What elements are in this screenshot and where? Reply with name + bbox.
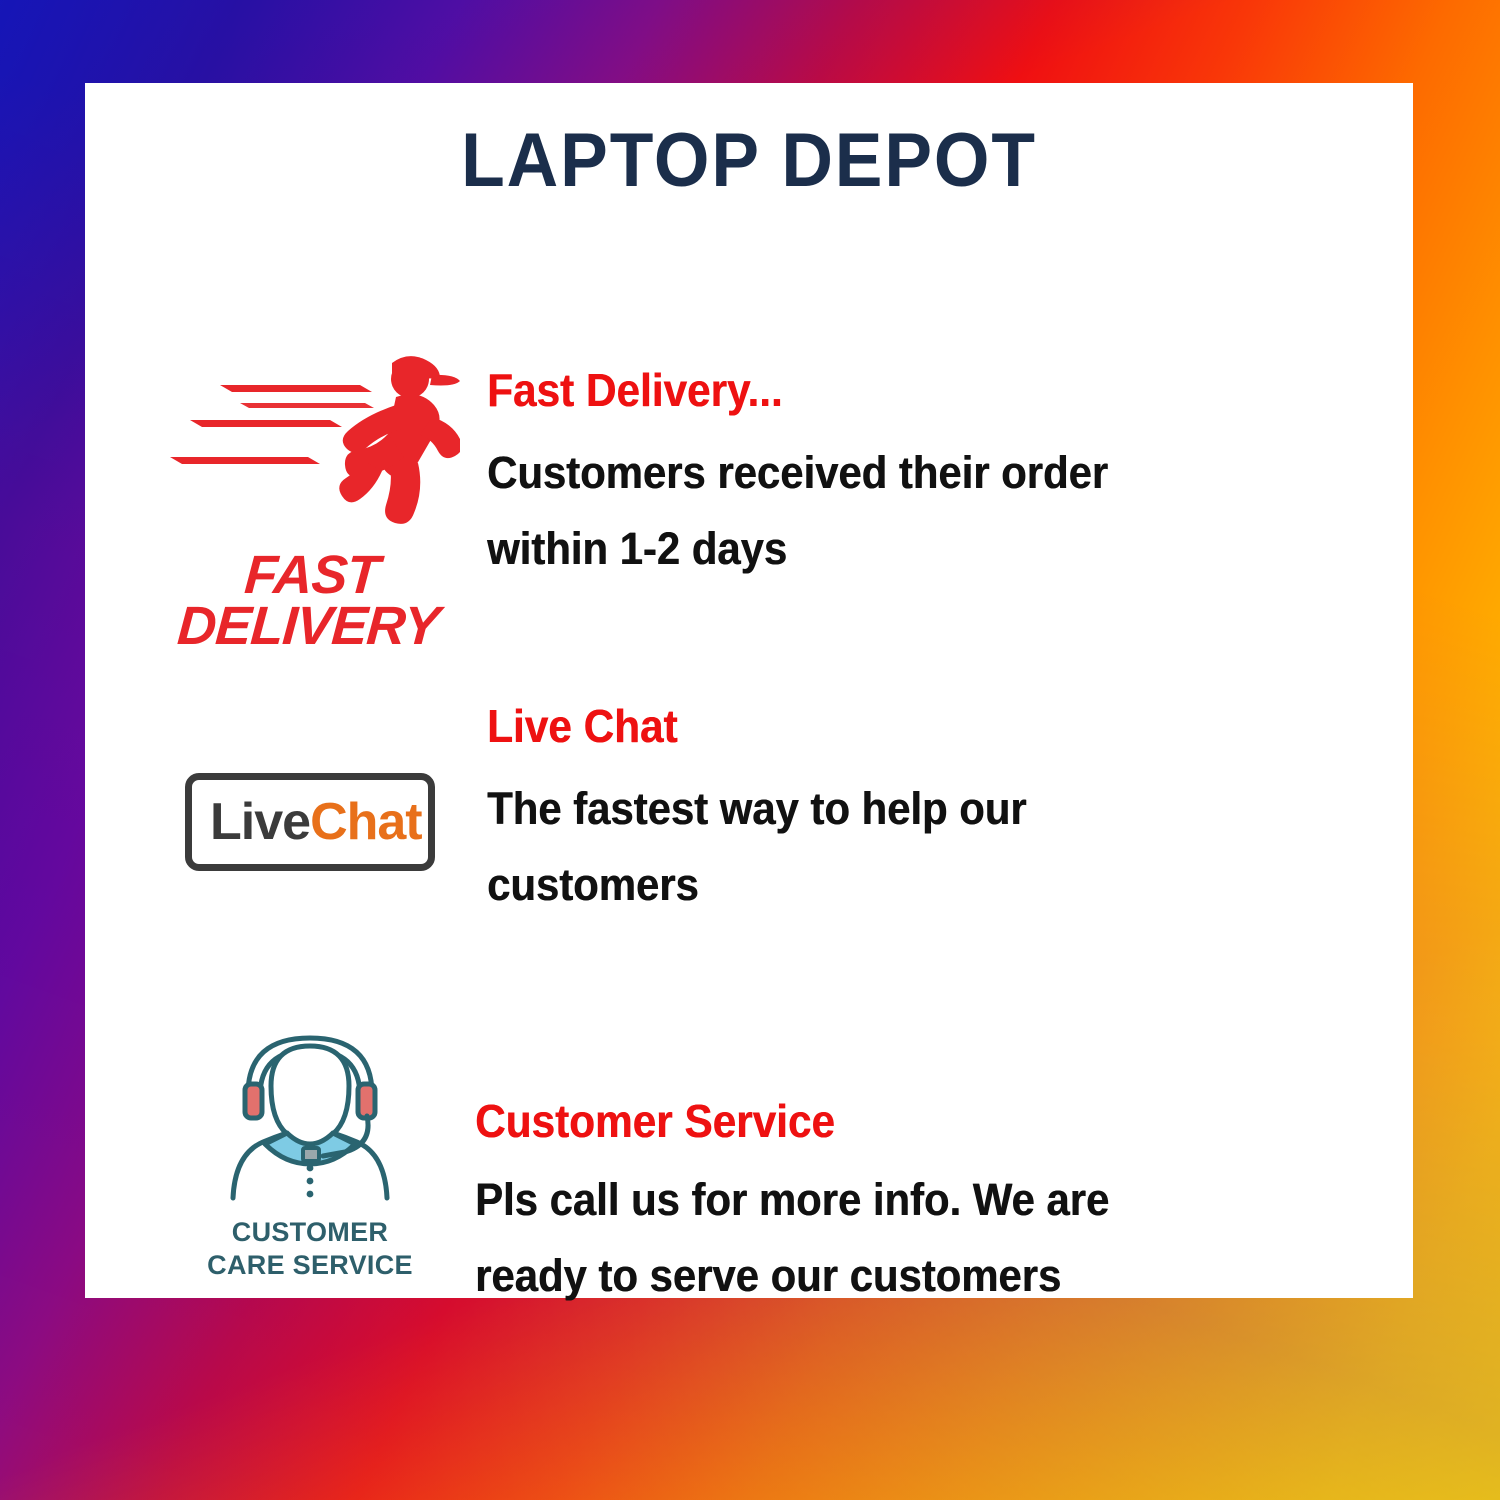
- live-chat-icon: LiveChat: [145, 703, 475, 871]
- customer-service-heading: Customer Service: [475, 1098, 1338, 1144]
- live-chat-heading: Live Chat: [487, 703, 1339, 749]
- fast-delivery-body-line1: Customers received their order: [487, 435, 1348, 511]
- customer-service-body-line2: ready to serve our customers: [475, 1238, 1347, 1314]
- live-chat-text: Live Chat The fastest way to help our cu…: [487, 703, 1413, 922]
- content-card: LAPTOP DEPOT: [85, 83, 1413, 1298]
- promo-poster: LAPTOP DEPOT: [0, 0, 1500, 1500]
- live-chat-body-line2: customers: [487, 847, 1348, 923]
- customer-care-caption: CUSTOMER CARE SERVICE: [180, 1216, 440, 1282]
- customer-service-body-line1: Pls call us for more info. We are: [475, 1162, 1347, 1238]
- feature-row-customer-service: CUSTOMER CARE SERVICE Customer Service P…: [85, 1008, 1413, 1313]
- customer-care-icon: CUSTOMER CARE SERVICE: [145, 1008, 475, 1282]
- page-title: LAPTOP DEPOT: [125, 117, 1373, 204]
- feature-row-fast-delivery: FAST DELIVERY Fast Delivery... Customers…: [85, 345, 1413, 652]
- livechat-word-chat: Chat: [310, 793, 422, 851]
- fast-delivery-body-line2: within 1-2 days: [487, 511, 1348, 587]
- fast-delivery-word-line1: FAST: [160, 550, 464, 601]
- feature-row-live-chat: LiveChat Live Chat The fastest way to he…: [85, 703, 1413, 922]
- live-chat-body-line1: The fastest way to help our: [487, 771, 1348, 847]
- fast-delivery-wordmark: FAST DELIVERY: [156, 550, 463, 652]
- headset-agent-graphic: [215, 1008, 405, 1203]
- fast-delivery-icon: FAST DELIVERY: [145, 345, 475, 652]
- customer-care-caption-line2: CARE SERVICE: [180, 1249, 440, 1282]
- fast-delivery-heading: Fast Delivery...: [487, 367, 1339, 413]
- customer-service-text: Customer Service Pls call us for more in…: [475, 1008, 1413, 1313]
- fast-delivery-text: Fast Delivery... Customers received thei…: [487, 345, 1413, 586]
- speech-bubble-icon: LiveChat: [185, 773, 435, 871]
- fast-delivery-word-line2: DELIVERY: [156, 601, 460, 652]
- livechat-word-live: Live: [210, 793, 310, 851]
- customer-care-caption-line1: CUSTOMER: [180, 1216, 440, 1249]
- delivery-runner-graphic: [160, 345, 460, 545]
